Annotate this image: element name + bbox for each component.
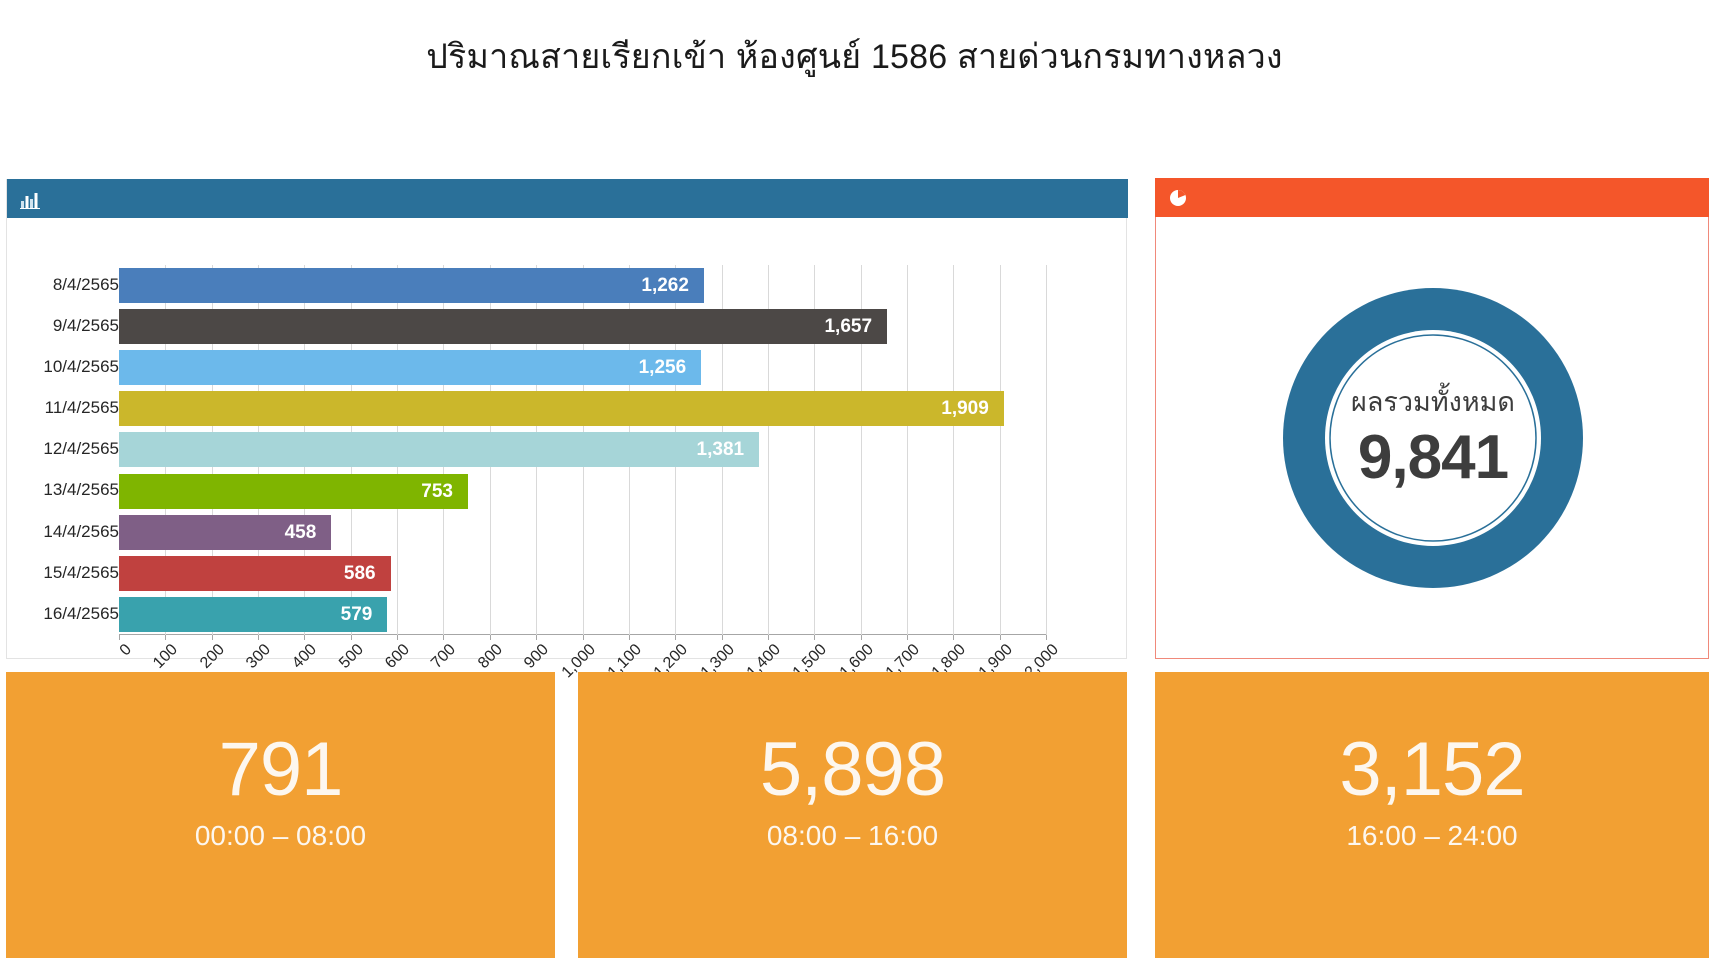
kpi-label: 16:00 – 24:00: [1346, 819, 1517, 853]
category-label: 12/4/2565: [19, 439, 119, 459]
gridline: [1046, 265, 1047, 635]
bar-row[interactable]: 1,909: [119, 388, 1046, 429]
bar[interactable]: [119, 391, 1004, 426]
bar-row[interactable]: 579: [119, 594, 1046, 635]
bar-row[interactable]: 1,262: [119, 265, 1046, 306]
kpi-card-evening[interactable]: 3,152 16:00 – 24:00: [1155, 672, 1709, 958]
kpi-label: 08:00 – 16:00: [767, 819, 938, 853]
category-row: 11/4/2565: [13, 388, 119, 429]
category-row: 12/4/2565: [13, 429, 119, 470]
bar-row[interactable]: 458: [119, 512, 1046, 553]
kpi-value: 5,898: [760, 727, 945, 813]
kpi-label: 00:00 – 08:00: [195, 819, 366, 853]
kpi-card-morning[interactable]: 5,898 08:00 – 16:00: [578, 672, 1127, 958]
category-row: 8/4/2565: [13, 265, 119, 306]
category-label: 9/4/2565: [19, 316, 119, 336]
bar-value-label: 579: [282, 604, 372, 626]
bar-value-label: 753: [363, 481, 453, 503]
category-label: 11/4/2565: [19, 398, 119, 418]
category-label: 13/4/2565: [19, 480, 119, 500]
category-label: 10/4/2565: [19, 357, 119, 377]
total-donut-panel: ผลรวมทั้งหมด 9,841: [1155, 179, 1709, 659]
bar-chart-panel-header: [7, 179, 1128, 218]
bar-value-label: 1,381: [654, 439, 744, 461]
bar-value-label: 1,657: [782, 316, 872, 338]
donut-panel-header: [1155, 178, 1709, 217]
category-label: 14/4/2565: [19, 522, 119, 542]
bar-chart-plot-area: 1,2621,6571,2561,9091,381753458586579: [119, 265, 1046, 635]
bar-row[interactable]: 1,256: [119, 347, 1046, 388]
category-label: 15/4/2565: [19, 563, 119, 583]
dashboard-page: ปริมาณสายเรียกเข้า ห้องศูนย์ 1586 สายด่ว…: [0, 0, 1709, 958]
kpi-value: 3,152: [1339, 727, 1524, 813]
category-label: 8/4/2565: [19, 275, 119, 295]
bar-chart-category-axis: 8/4/2565 9/4/2565 10/4/2565 11/4/2565 12…: [13, 265, 119, 635]
category-row: 10/4/2565: [13, 347, 119, 388]
bar-value-label: 1,256: [596, 357, 686, 379]
bar-chart-icon: [20, 189, 40, 209]
bar-row[interactable]: 1,381: [119, 429, 1046, 470]
bar-row[interactable]: 1,657: [119, 306, 1046, 347]
bar-chart-panel: 8/4/2565 9/4/2565 10/4/2565 11/4/2565 12…: [6, 179, 1127, 659]
category-label: 16/4/2565: [19, 604, 119, 624]
donut-chart: ผลรวมทั้งหมด 9,841: [1156, 218, 1709, 658]
donut-ring: [1268, 273, 1598, 603]
bar-value-label: 586: [286, 563, 376, 585]
bar-chart-plot: 8/4/2565 9/4/2565 10/4/2565 11/4/2565 12…: [7, 218, 1128, 659]
category-row: 15/4/2565: [13, 553, 119, 594]
bar-value-label: 458: [226, 522, 316, 544]
category-row: 16/4/2565: [13, 594, 119, 635]
kpi-card-night[interactable]: 791 00:00 – 08:00: [6, 672, 555, 958]
category-row: 14/4/2565: [13, 512, 119, 553]
page-title: ปริมาณสายเรียกเข้า ห้องศูนย์ 1586 สายด่ว…: [0, 30, 1709, 84]
kpi-value: 791: [219, 727, 343, 813]
bar-value-label: 1,909: [899, 398, 989, 420]
bar-value-label: 1,262: [599, 275, 689, 297]
bar[interactable]: [119, 309, 887, 344]
category-row: 9/4/2565: [13, 306, 119, 347]
bar-row[interactable]: 586: [119, 553, 1046, 594]
pie-chart-icon: [1168, 188, 1188, 208]
category-row: 13/4/2565: [13, 470, 119, 511]
bar-row[interactable]: 753: [119, 471, 1046, 512]
